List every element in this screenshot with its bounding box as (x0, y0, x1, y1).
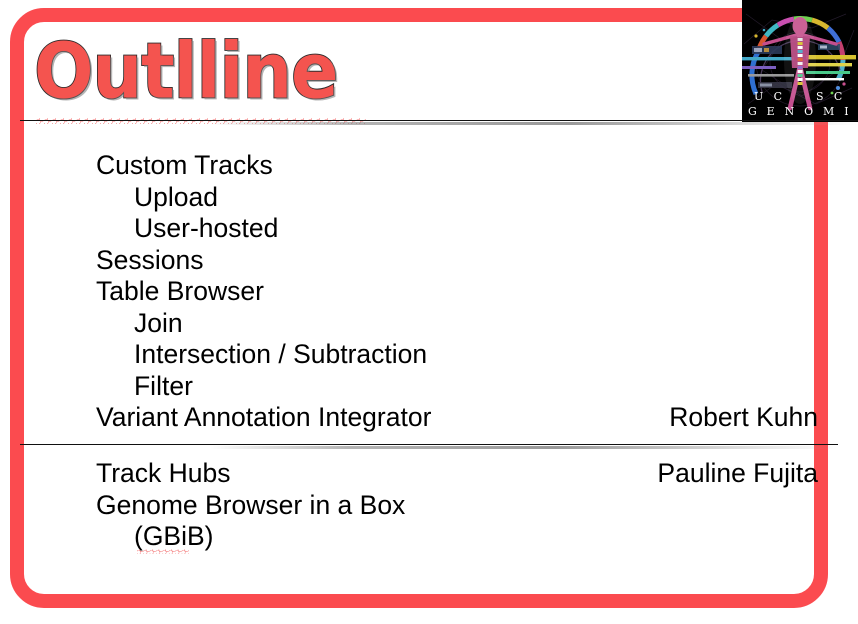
list-item-label: Track Hubs (96, 458, 231, 488)
list-item: Upload (96, 182, 818, 214)
list-item-label: Table Browser (96, 276, 264, 306)
list-item-label-wrap: (GBiB) (134, 521, 214, 553)
list-item: Filter (96, 371, 818, 403)
list-item-label: Filter (134, 371, 193, 401)
list-item-label: Sessions (96, 245, 204, 275)
slide-canvas: Outlline (0, 0, 858, 624)
list-item-label: Intersection / Subtraction (134, 339, 427, 369)
list-item-label: Genome Browser in a Box (96, 490, 405, 520)
list-item: Custom Tracks (96, 150, 818, 182)
list-item: User-hosted (96, 213, 818, 245)
ucsc-genomics-logo: U C S C G E N O M I C S (742, 0, 858, 122)
list-item-label: User-hosted (134, 213, 278, 243)
outline-list-section-two: Track Hubs Pauline Fujita Genome Browser… (96, 458, 818, 553)
list-item: Track Hubs Pauline Fujita (96, 458, 818, 490)
list-item-owner: Pauline Fujita (657, 458, 818, 490)
list-item: Genome Browser in a Box (96, 490, 818, 522)
list-item: Join (96, 308, 818, 340)
divider-top (20, 120, 858, 121)
ucsc-genomics-logo-art: U C S C G E N O M I C S (742, 0, 858, 122)
logo-text-sc: S C (816, 90, 846, 103)
logo-text-uc: U C (754, 90, 785, 103)
list-item-label: Join (134, 308, 183, 338)
list-item: Variant Annotation Integrator Robert Kuh… (96, 402, 818, 434)
list-item-label: Variant Annotation Integrator (96, 402, 431, 432)
logo-text-genomics: G E N O M I C S (748, 105, 858, 118)
list-item-label: Custom Tracks (96, 150, 273, 180)
list-item-owner: Robert Kuhn (669, 402, 818, 434)
list-item: Sessions (96, 245, 818, 277)
list-item-label: Upload (134, 182, 218, 212)
list-item: Intersection / Subtraction (96, 339, 818, 371)
page-title: Outlline (34, 30, 320, 112)
list-item: (GBiB) (96, 521, 818, 553)
list-item-label: (GBiB) (134, 521, 214, 551)
outline-list-section-one: Custom Tracks Upload User-hosted Session… (96, 150, 818, 434)
spellcheck-squiggle-icon (137, 549, 189, 554)
divider-middle (20, 444, 838, 445)
page-title-text: Outlline (34, 30, 337, 114)
list-item: Table Browser (96, 276, 818, 308)
